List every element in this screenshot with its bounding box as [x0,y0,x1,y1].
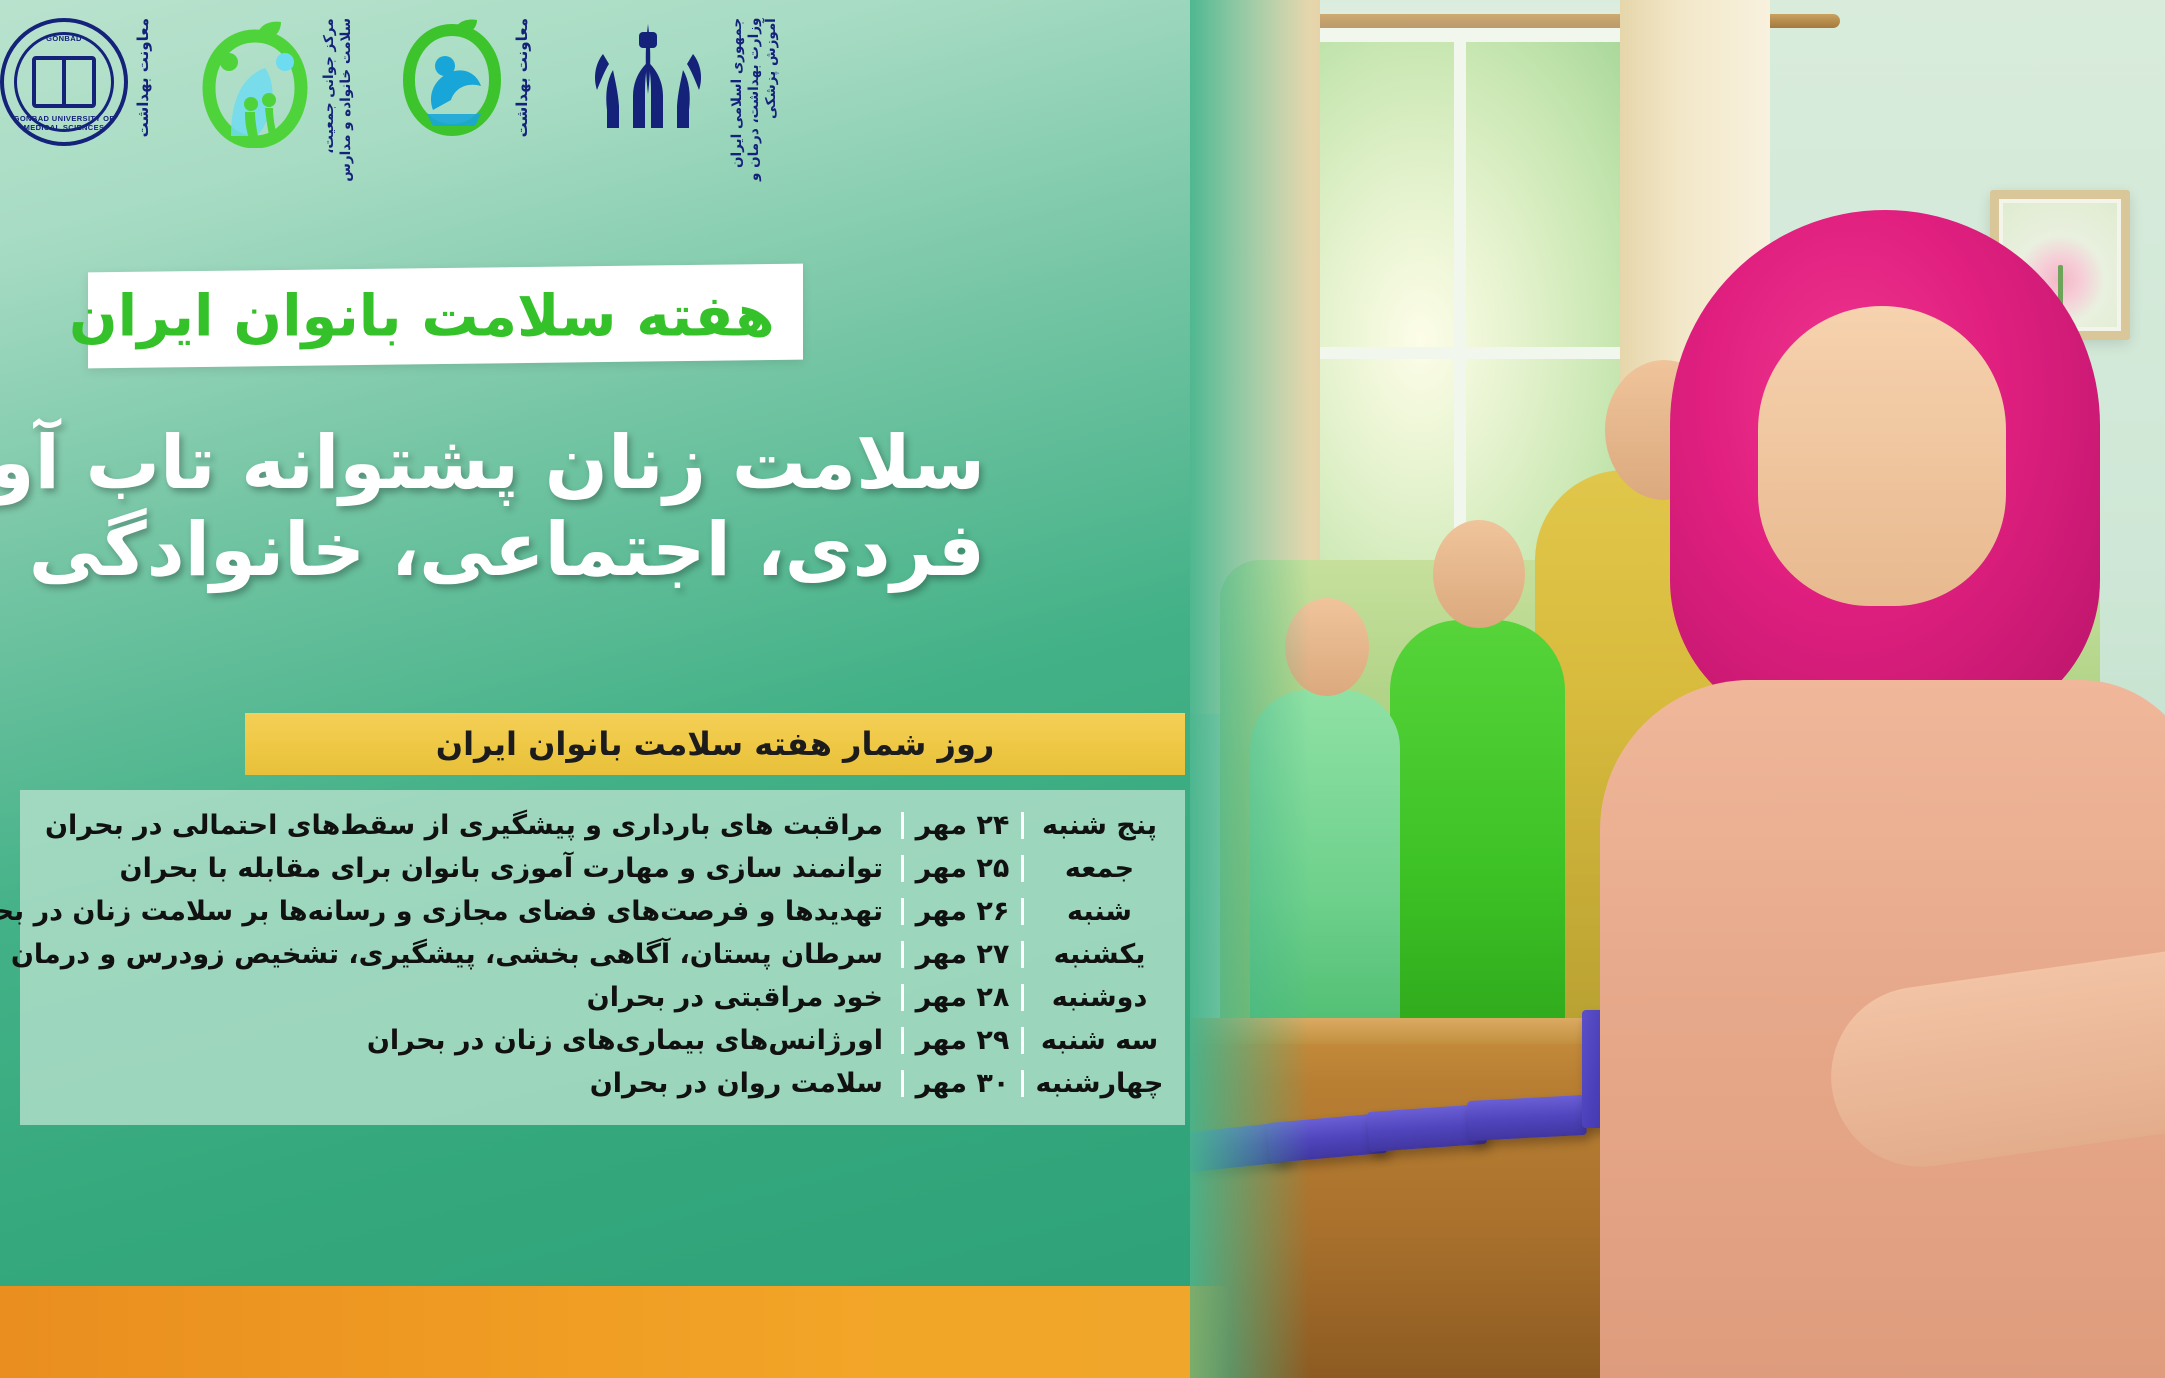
schedule-topic: اورژانس‌های بیماری‌های زنان در بحران [38,1027,901,1054]
table-row: چهارشنبه۳۰ مهرسلامت روان در بحران [38,1062,1167,1105]
schedule-date: ۲۹ مهر [901,1027,1021,1054]
schedule-day: یکشنبه [1021,941,1167,968]
table-row: یکشنبه۲۷ مهرسرطان پستان، آگاهی بخشی، پیش… [38,933,1167,976]
schedule-day: پنج شنبه [1021,812,1167,839]
schedule-date: ۲۵ مهر [901,855,1021,882]
table-row: دوشنبه۲۸ مهرخود مراقبتی در بحران [38,976,1167,1019]
schedule-day: جمعه [1021,855,1167,882]
footer-orange-band [0,1286,1190,1378]
schedule-topic: خود مراقبتی در بحران [38,984,901,1011]
schedule-day: دوشنبه [1021,984,1167,1011]
schedule-date: ۲۷ مهر [901,941,1021,968]
footer-orange-fade [1100,1286,1230,1378]
logo-caption-health-deputy: معاونت بهداشت [513,18,532,137]
schedule-topic: سلامت روان در بحران [38,1070,901,1097]
table-row: پنج شنبه۲۴ مهرمراقبت های بارداری و پیشگی… [38,804,1167,847]
schedule-date: ۲۴ مهر [901,812,1021,839]
section-header-text: روز شمار هفته سلامت بانوان ایران [436,725,995,763]
schedule-topic: توانمند سازی و مهارت آموزی بانوان برای م… [38,855,901,882]
seal-text-top: GONBAD [4,34,124,43]
apple-family-icon [195,18,315,148]
schedule-topic: تهدیدها و فرصت‌های فضای مجازی و رسانه‌ها… [0,898,901,925]
slogan: سلامت زنان پشتوانه تاب آوری فردی، اجتماع… [25,420,985,593]
gonbad-university-seal-icon: GONBAD GONBAD UNIVERSITY OF MEDICAL SCIE… [0,18,128,146]
title-banner: هفته سلامت بانوان ایران [88,264,803,369]
schedule-date: ۲۸ مهر [901,984,1021,1011]
table-row: سه شنبه۲۹ مهراورژانس‌های بیماری‌های زنان… [38,1019,1167,1062]
schedule-topic: سرطان پستان، آگاهی بخشی، پیشگیری، تشخیص … [11,941,901,968]
family-photo [1190,0,2165,1378]
iran-emblem-icon [573,18,723,138]
schedule-topic: مراقبت های بارداری و پیشگیری از سقط‌های … [38,812,901,839]
logo-ministry-of-health: جمهوری اسلامی ایران وزارت بهداشت، درمان … [573,18,780,188]
logo-population-youth-center: مرکز جوانی جمعیت، سلامت خانواده و مدارس [195,18,355,182]
page-title: هفته سلامت بانوان ایران [69,288,775,345]
seal-text-bottom: GONBAD UNIVERSITY OF MEDICAL SCIENCES [4,114,124,132]
slogan-line-1: سلامت زنان پشتوانه تاب آوری [25,420,985,507]
photo-left-fade [1190,0,1310,1378]
schedule-rows: پنج شنبه۲۴ مهرمراقبت های بارداری و پیشگی… [38,804,1167,1105]
poster-root: معاونت بهداشت GONBAD GONBAD UNIVERSITY O… [0,0,2165,1378]
logo-caption-population: مرکز جوانی جمعیت، سلامت خانواده و مدارس [321,18,355,182]
schedule-day: چهارشنبه [1021,1070,1167,1097]
section-header: روز شمار هفته سلامت بانوان ایران [245,713,1185,775]
logo-caption-gonbad: معاونت بهداشت [134,18,153,137]
health-deputy-icon [397,18,507,138]
logo-health-deputy: معاونت بهداشت [397,18,532,138]
logo-gonbad-university: معاونت بهداشت GONBAD GONBAD UNIVERSITY O… [0,18,153,146]
schedule-day: سه شنبه [1021,1027,1167,1054]
logo-row: معاونت بهداشت GONBAD GONBAD UNIVERSITY O… [0,18,900,208]
schedule-date: ۲۶ مهر [901,898,1021,925]
schedule-day: شنبه [1021,898,1167,925]
open-book-icon [32,56,96,108]
logo-caption-ministry: جمهوری اسلامی ایران وزارت بهداشت، درمان … [729,18,780,188]
schedule-table: پنج شنبه۲۴ مهرمراقبت های بارداری و پیشگی… [20,790,1185,1125]
woman-face [1758,306,2006,606]
background-right-photo [1190,0,2165,1378]
table-row: جمعه۲۵ مهرتوانمند سازی و مهارت آموزی بان… [38,847,1167,890]
slogan-line-2: فردی، اجتماعی، خانوادگی [25,507,985,594]
woman-figure [1490,210,2165,1378]
table-row: شنبه۲۶ مهرتهدیدها و فرصت‌های فضای مجازی … [38,890,1167,933]
schedule-date: ۳۰ مهر [901,1070,1021,1097]
